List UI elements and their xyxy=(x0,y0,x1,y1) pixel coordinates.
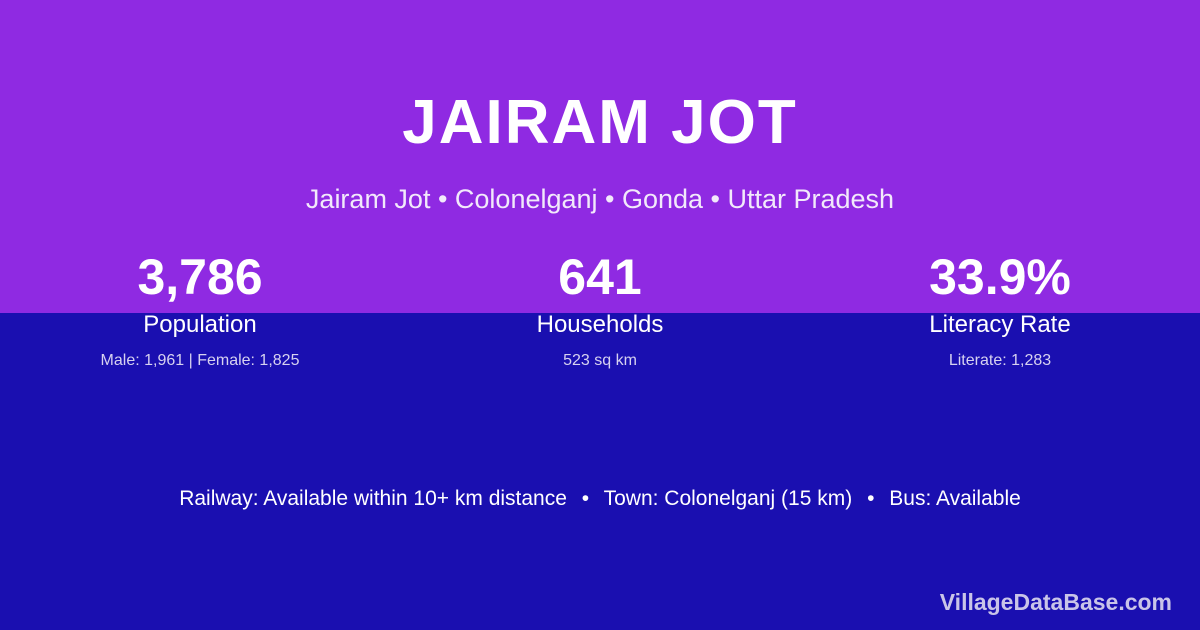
stat-sublabel: Literate: 1,283 xyxy=(800,350,1200,372)
facility-town: Town: Colonelganj (15 km) xyxy=(604,487,853,510)
stat-label: Households xyxy=(400,310,800,340)
village-info-card: JAIRAM JOT Jairam Jot • Colonelganj • Go… xyxy=(0,0,1200,630)
page-title: JAIRAM JOT xyxy=(0,85,1200,161)
facility-separator: • xyxy=(573,484,598,514)
site-brand: VillageDataBase.com xyxy=(940,588,1172,616)
breadcrumb: Jairam Jot • Colonelganj • Gonda • Uttar… xyxy=(0,182,1200,216)
stat-population: 3,786 Population Male: 1,961 | Female: 1… xyxy=(0,246,400,372)
facility-bus: Bus: Available xyxy=(889,487,1021,510)
stat-label: Literacy Rate xyxy=(800,310,1200,340)
facility-railway: Railway: Available within 10+ km distanc… xyxy=(179,487,567,510)
stat-literacy-rate: 33.9% Literacy Rate Literate: 1,283 xyxy=(800,246,1200,372)
stat-value: 641 xyxy=(400,246,800,308)
stats-row: 3,786 Population Male: 1,961 | Female: 1… xyxy=(0,246,1200,372)
stat-sublabel: Male: 1,961 | Female: 1,825 xyxy=(0,350,400,372)
facilities-line: Railway: Available within 10+ km distanc… xyxy=(0,484,1200,514)
facility-separator: • xyxy=(858,484,883,514)
stat-households: 641 Households 523 sq km xyxy=(400,246,800,372)
stat-value: 3,786 xyxy=(0,246,400,308)
card-content: JAIRAM JOT Jairam Jot • Colonelganj • Go… xyxy=(0,0,1200,630)
stat-sublabel: 523 sq km xyxy=(400,350,800,372)
stat-value: 33.9% xyxy=(800,246,1200,308)
stat-label: Population xyxy=(0,310,400,340)
